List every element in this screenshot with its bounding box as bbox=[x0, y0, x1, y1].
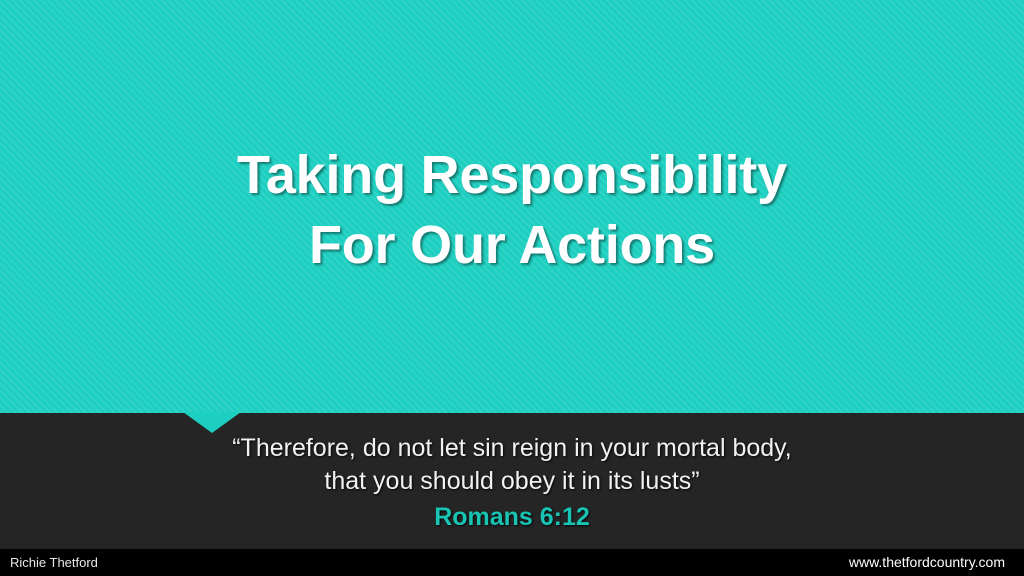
scripture-reference: Romans 6:12 bbox=[0, 502, 1024, 532]
scripture-line-1: “Therefore, do not let sin reign in your… bbox=[0, 432, 1024, 465]
footer-author: Richie Thetford bbox=[10, 555, 98, 571]
chevron-down-icon bbox=[183, 412, 242, 433]
chevron-triangle bbox=[183, 412, 241, 433]
footer-bar: Richie Thetford www.thetfordcountry.com bbox=[0, 549, 1024, 576]
footer-website[interactable]: www.thetfordcountry.com bbox=[849, 554, 1005, 571]
title-line-1: Taking Responsibility bbox=[237, 140, 787, 210]
presentation-slide: Taking Responsibility For Our Actions “T… bbox=[0, 0, 1024, 576]
title-block: Taking Responsibility For Our Actions bbox=[0, 0, 1024, 413]
scripture-quote-block: “Therefore, do not let sin reign in your… bbox=[0, 432, 1024, 532]
title-line-2: For Our Actions bbox=[309, 210, 715, 280]
scripture-line-2: that you should obey it in its lusts” bbox=[0, 465, 1024, 498]
